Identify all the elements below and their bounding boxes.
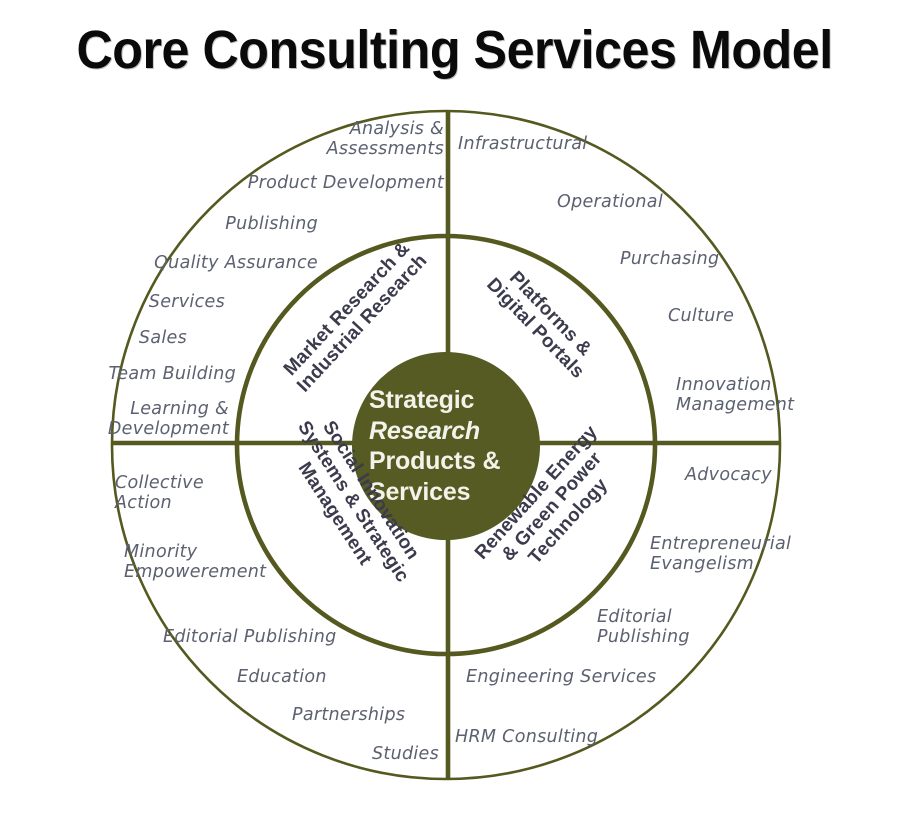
outer-label-publishing[interactable]: Publishing xyxy=(194,215,318,235)
outer-label-collective-action[interactable]: Collective Action xyxy=(115,474,255,513)
outer-label-minority-empowerement[interactable]: Minority Empowerement xyxy=(124,543,296,582)
outer-label-innovation-management[interactable]: Innovation Management xyxy=(676,376,856,415)
outer-label-partnerships[interactable]: Partnerships xyxy=(292,706,442,726)
outer-label-education[interactable]: Education xyxy=(237,668,367,688)
outer-label-learning-development[interactable]: Learning & Development xyxy=(91,400,229,439)
core-line-1: Strategic xyxy=(369,385,474,416)
outer-label-hrm-consulting[interactable]: HRM Consulting xyxy=(455,728,625,748)
outer-label-editorial-publishing-bl[interactable]: Editorial Publishing xyxy=(163,628,369,648)
outer-label-advocacy[interactable]: Advocacy xyxy=(685,466,805,486)
outer-label-operational[interactable]: Operational xyxy=(557,193,697,213)
core-consulting-services-diagram: Strategic Research Products & Services M… xyxy=(0,0,910,816)
outer-label-sales[interactable]: Sales xyxy=(106,329,187,349)
outer-label-services[interactable]: Services xyxy=(121,293,225,313)
outer-label-culture[interactable]: Culture xyxy=(668,307,778,327)
outer-label-engineering-services[interactable]: Engineering Services xyxy=(466,668,666,688)
outer-label-team-building[interactable]: Team Building xyxy=(97,365,236,385)
outer-label-studies[interactable]: Studies xyxy=(372,745,482,765)
outer-label-editorial-publishing-br[interactable]: Editorial Publishing xyxy=(597,608,727,647)
outer-label-quality-assurance[interactable]: Quality Assurance xyxy=(131,254,318,274)
outer-label-entrepreneurial-evangelism[interactable]: Entrepreneurial Evangelism xyxy=(650,535,836,574)
outer-label-purchasing[interactable]: Purchasing xyxy=(620,250,760,270)
outer-label-analysis-assessments[interactable]: Analysis & Assessments xyxy=(268,120,444,159)
core-line-3: Products & xyxy=(369,446,500,477)
outer-label-product-development[interactable]: Product Development xyxy=(196,174,444,194)
core-line-2: Research xyxy=(369,416,480,447)
outer-label-infrastructural[interactable]: Infrastructural xyxy=(458,135,618,155)
